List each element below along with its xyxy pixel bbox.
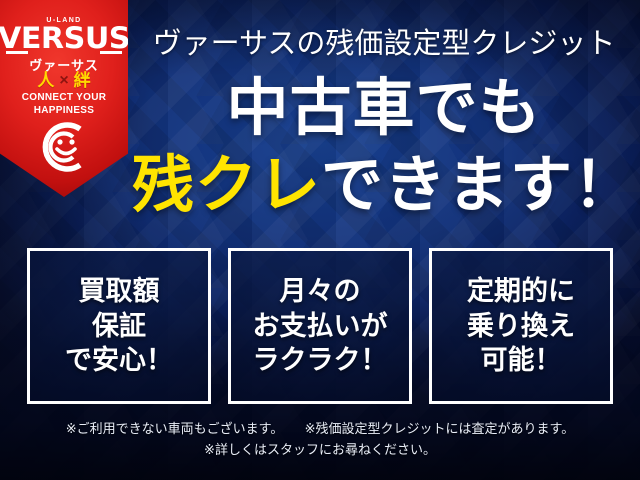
feature-line: 定期的に — [467, 274, 575, 309]
headline-subtitle: ヴァーサスの残価設定型クレジット — [128, 30, 640, 59]
feature-line: 月々の — [280, 274, 361, 309]
headline-line-1: 中古車でも — [128, 78, 640, 140]
slogan-kanji-kizuna: 絆 — [74, 72, 91, 89]
versus-wordmark: VERSUS — [0, 24, 131, 53]
connect-happiness-tagline: CONNECT YOUR HAPPINESS — [0, 92, 128, 117]
c-smiley-icon — [34, 117, 94, 177]
disclaimer-ask-staff: ※詳しくはスタッフにお尋ねください。 — [204, 442, 436, 457]
feature-box-regular-replacement: 定期的に 乗り換え 可能！ — [429, 248, 613, 404]
feature-line: ラクラク！ — [253, 343, 388, 378]
feature-box-buyback-guarantee: 買取額 保証 で安心！ — [27, 248, 211, 404]
headline-highlight-zankure: 残クレ — [132, 151, 321, 220]
disclaimer-assessment: ※残価設定型クレジットには査定があります。 — [305, 421, 575, 436]
disclaimer-row-2: ※詳しくはスタッフにお尋ねください。 — [0, 439, 640, 460]
slogan-hito-kizuna: 人 × 絆 — [0, 72, 128, 89]
feature-line: 可能！ — [481, 343, 562, 378]
disclaimer-notes: ※ご利用できない車両もございます。 ※残価設定型クレジットには査定があります。 … — [0, 418, 640, 461]
feature-box-monthly-payment: 月々の お支払いが ラクラク！ — [228, 248, 412, 404]
versus-residual-credit-banner: U-LAND VERSUS ヴァーサス 人 × 絆 CONNECT YOUR H… — [0, 0, 640, 480]
headline-line-2-suffix: できます！ — [321, 151, 636, 220]
slogan-kanji-hito: 人 — [37, 72, 54, 89]
tagline-line-2: HAPPINESS — [34, 105, 95, 116]
tagline-line-1: CONNECT YOUR — [22, 92, 107, 103]
headline-line-2: 残クレできます！ — [128, 155, 640, 217]
feature-line: 乗り換え — [467, 309, 575, 344]
feature-line: お支払いが — [253, 309, 388, 344]
disclaimer-row-1: ※ご利用できない車両もございます。 ※残価設定型クレジットには査定があります。 — [0, 418, 640, 439]
feature-line: 買取額 — [79, 274, 160, 309]
feature-line: で安心！ — [65, 343, 173, 378]
feature-box-group: 買取額 保証 で安心！ 月々の お支払いが ラクラク！ 定期的に 乗り換え 可能… — [27, 248, 613, 404]
disclaimer-vehicles: ※ご利用できない車両もございます。 — [66, 421, 284, 436]
feature-line: 保証 — [92, 309, 146, 344]
slogan-x-icon: × — [59, 73, 68, 89]
